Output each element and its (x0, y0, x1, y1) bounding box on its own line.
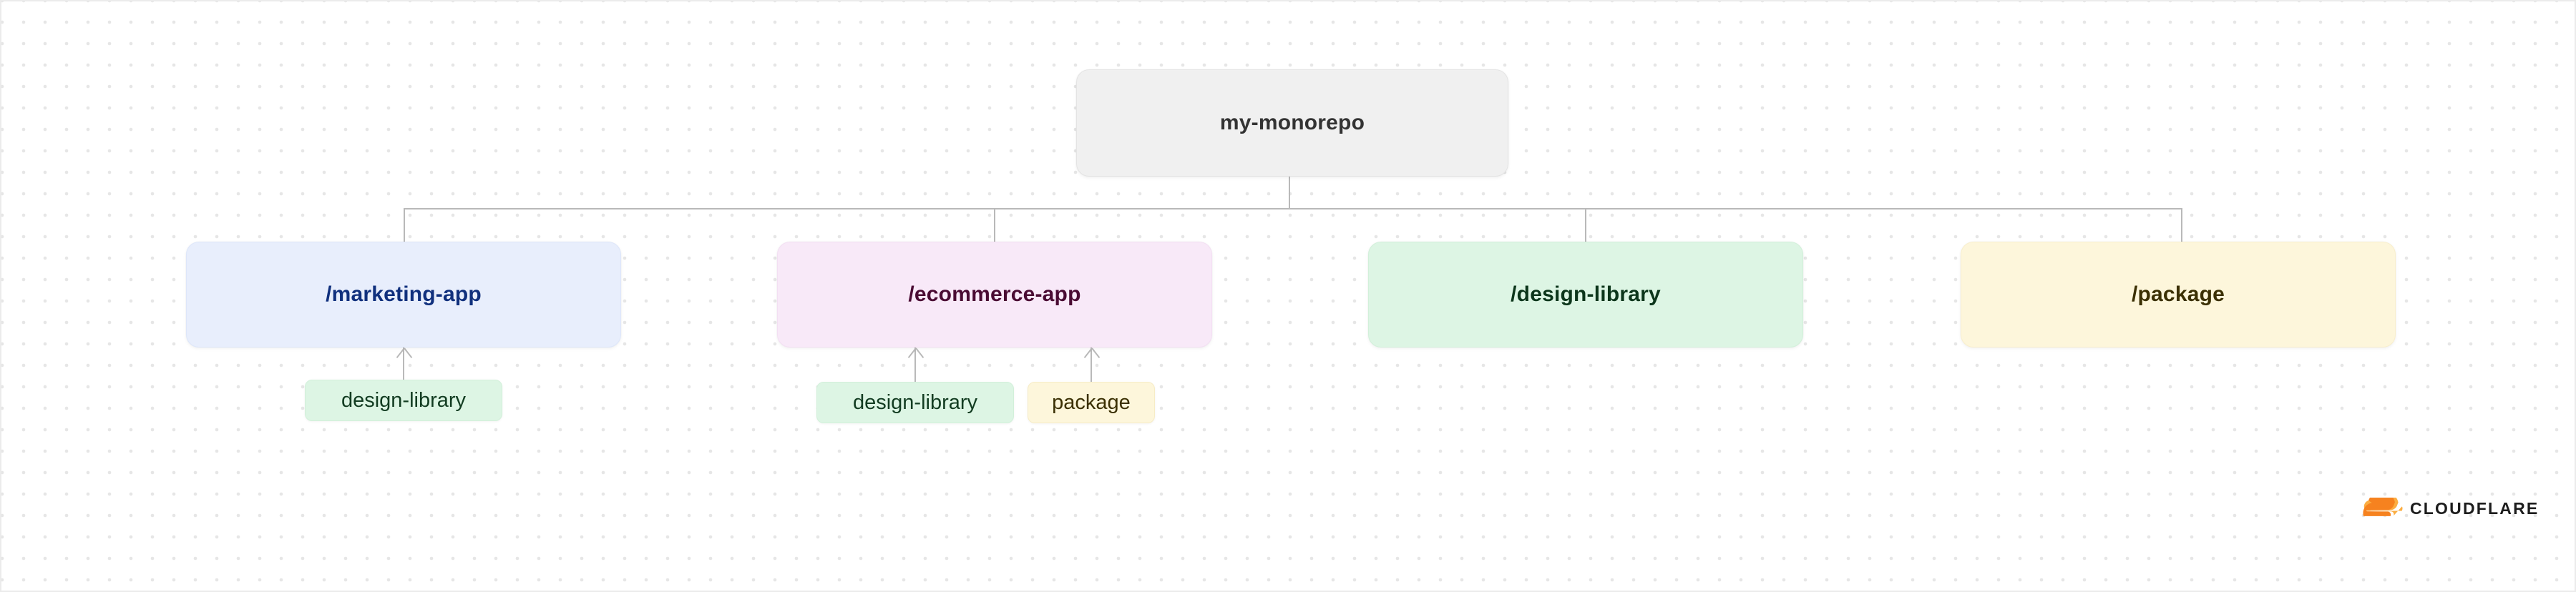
node-label-ecommerce-app: /ecommerce-app (908, 282, 1080, 307)
node-my-monorepo[interactable]: my-monorepo (1076, 69, 1508, 177)
connector-dep-ecommerce-design-library (914, 347, 916, 383)
connector-drop-design-library (1585, 208, 1586, 242)
cloudflare-logo: CLOUDFLARE (2363, 498, 2539, 520)
connector-drop-ecommerce-app (994, 208, 995, 242)
connector-dep-ecommerce-package (1091, 347, 1092, 383)
dependency-pill-label: package (1052, 391, 1131, 415)
dependency-pill-marketing-design-library[interactable]: design-library (305, 380, 502, 421)
node-label-my-monorepo: my-monorepo (1220, 111, 1365, 135)
connector-horizontal-bus (404, 208, 2182, 209)
node-ecommerce-app[interactable]: /ecommerce-app (777, 242, 1212, 347)
dependency-pill-ecommerce-design-library[interactable]: design-library (816, 382, 1014, 423)
node-label-package: /package (2132, 282, 2225, 307)
dependency-pill-label: design-library (341, 389, 466, 413)
connector-dep-marketing-design-library (403, 347, 404, 380)
connector-drop-marketing-app (404, 208, 405, 242)
connector-root-drop (1289, 177, 1290, 209)
dependency-pill-ecommerce-package[interactable]: package (1028, 382, 1155, 423)
node-design-library[interactable]: /design-library (1368, 242, 1803, 347)
connector-drop-package (2181, 208, 2182, 242)
cloudflare-wordmark: CLOUDFLARE (2410, 499, 2539, 518)
node-marketing-app[interactable]: /marketing-app (186, 242, 621, 347)
node-label-design-library: /design-library (1511, 282, 1661, 307)
cloudflare-cloud-icon (2363, 498, 2403, 520)
node-label-marketing-app: /marketing-app (326, 282, 482, 307)
node-package[interactable]: /package (1961, 242, 2396, 347)
diagram-canvas: my-monorepo /marketing-app /ecommerce-ap… (0, 0, 2576, 592)
dependency-pill-label: design-library (853, 391, 977, 415)
